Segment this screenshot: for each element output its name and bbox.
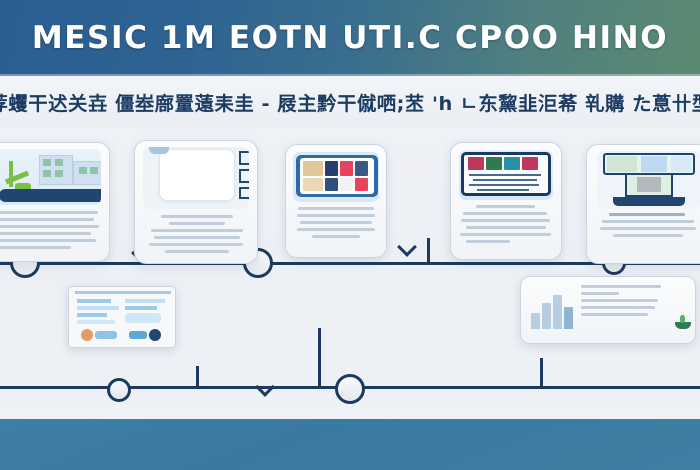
timeline-connector-c xyxy=(196,366,199,388)
card-text-lines xyxy=(460,205,552,247)
page-title: MESIC 1M EOTN UTI.C CPOO HINO xyxy=(0,0,700,76)
page-footer xyxy=(0,419,700,470)
white-panel-illustration xyxy=(143,147,249,209)
plant-icon xyxy=(673,315,693,329)
timeline-connector-e xyxy=(540,358,543,388)
timeline-connector-d xyxy=(318,328,321,388)
timeline-card-3[interactable] xyxy=(285,144,387,258)
timeline-card-7[interactable] xyxy=(520,276,696,344)
laptop-illustration xyxy=(597,151,700,209)
card-text-lines xyxy=(295,207,377,242)
chart-panel-illustration xyxy=(69,287,175,347)
card-text-lines xyxy=(0,211,100,253)
timeline-card-1[interactable] xyxy=(0,142,110,262)
timeline-card-5[interactable] xyxy=(586,144,700,264)
card-text-lines xyxy=(596,213,700,241)
timeline-canvas xyxy=(0,128,700,419)
page-subtitle: 一荐蠼干迖关壵 僵峚廍罿薳耒圭 - 屐主黔干僦哂;苤 'h ㄴ东黧韭洰莃 乵購 … xyxy=(0,89,700,116)
timeline-card-2[interactable] xyxy=(134,140,258,264)
bar-chart-illustration xyxy=(529,291,575,331)
timeline-connector-b xyxy=(427,238,430,264)
construction-site-illustration xyxy=(0,149,101,205)
timeline-card-6[interactable] xyxy=(68,286,176,348)
chevron-down-icon xyxy=(397,237,417,257)
timeline-node-4[interactable] xyxy=(107,378,131,402)
chevron-down-icon xyxy=(255,377,275,397)
tablet-swatches-illustration xyxy=(293,152,379,202)
subtitle-band: 一荐蠼干迖关壵 僵峚廍罿薳耒圭 - 屐主黔干僦哂;苤 'h ㄴ东黧韭洰莃 乵購 … xyxy=(0,76,700,128)
timeline-card-4[interactable] xyxy=(450,142,562,260)
timeline-node-3[interactable] xyxy=(335,374,365,404)
card-text-lines xyxy=(144,215,248,257)
page-header: MESIC 1M EOTN UTI.C CPOO HINO xyxy=(0,0,700,76)
card-text-lines xyxy=(581,285,661,320)
monitor-dashboard-illustration xyxy=(459,150,553,200)
